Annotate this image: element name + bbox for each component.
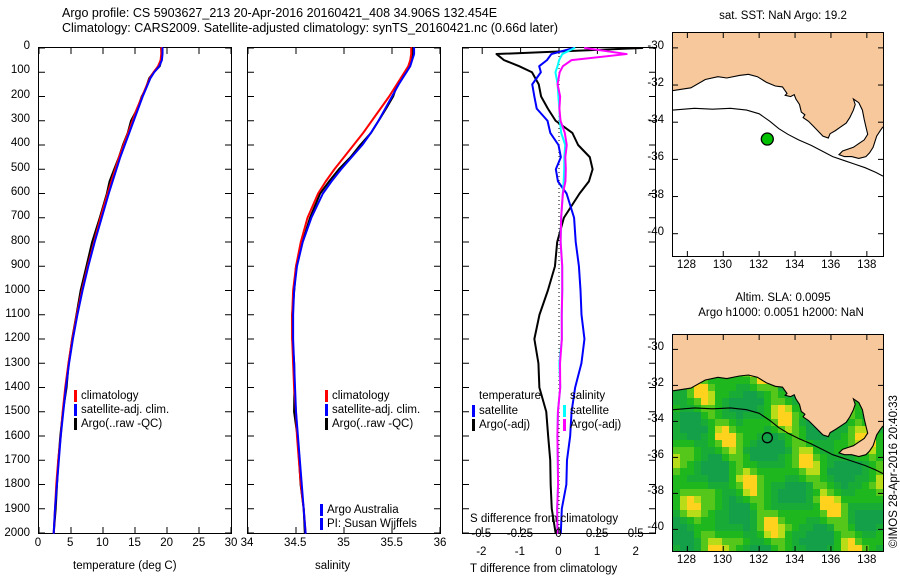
- map-x-tick-label: 128: [666, 259, 706, 271]
- map-y-tick-label: -36: [632, 449, 664, 461]
- map-y-tick-label: -32: [632, 77, 664, 89]
- y-tick-label: 1100: [0, 308, 30, 320]
- legend-label: satellite: [479, 405, 518, 417]
- y-tick-label: 900: [0, 259, 30, 271]
- legend-label: climatology: [81, 390, 139, 402]
- y-tick-label: 1000: [0, 284, 30, 296]
- y-tick-label: 1800: [0, 478, 30, 490]
- attribution-org-row: Argo Australia: [320, 503, 417, 517]
- sst-map-frame: [672, 32, 884, 257]
- map-x-tick-label: 134: [775, 259, 815, 271]
- y-tick-label: 1500: [0, 405, 30, 417]
- map-x-tick-label: 130: [702, 259, 742, 271]
- temperature-legend-row: satellite-adj. clim.: [74, 403, 169, 417]
- legend-label: satellite-adj. clim.: [81, 404, 169, 416]
- map-x-tick-label: 134: [775, 554, 815, 566]
- salinity-plot-frame: [247, 47, 441, 534]
- temperature-x-axis-label: temperature (deg C): [73, 560, 177, 572]
- temperature-plot-frame: [38, 47, 232, 534]
- legend-group-heading: temperature: [479, 390, 541, 404]
- map-y-tick-label: -40: [632, 226, 664, 238]
- x-tick-label: 35.5: [370, 537, 414, 549]
- y-tick-label: 300: [0, 113, 30, 125]
- y-tick-label: 1600: [0, 430, 30, 442]
- sst-map-canvas: [673, 33, 883, 256]
- map-x-tick-label: 132: [739, 259, 779, 271]
- legend-label: Argo(..raw -QC): [332, 418, 413, 430]
- map-y-tick-label: -34: [632, 413, 664, 425]
- difference-legend-group: temperaturesatelliteArgo(-adj): [472, 390, 541, 432]
- legend-color-swatch-icon: [563, 405, 566, 417]
- y-tick-label: 400: [0, 137, 30, 149]
- map-x-tick-label: 138: [847, 259, 887, 271]
- legend-label: Argo(-adj): [479, 419, 530, 431]
- difference-plot-canvas: [463, 48, 655, 533]
- y-tick-label: 700: [0, 210, 30, 222]
- attribution-org: Argo Australia: [327, 504, 399, 516]
- temperature-plot-canvas: [39, 48, 231, 533]
- y-tick-label: 600: [0, 186, 30, 198]
- difference-legend-row: Argo(-adj): [472, 418, 541, 432]
- temperature-legend-row: Argo(..raw -QC): [74, 417, 169, 431]
- credit-text-wrap: ©IMOS 28-Apr-2016 20:40:33: [888, 548, 900, 560]
- title-line-1: Argo profile: CS 5903627_213 20-Apr-2016…: [62, 6, 558, 21]
- difference-legend: temperaturesatelliteArgo(-adj)salinitysa…: [472, 390, 621, 432]
- map-y-tick-label: -40: [632, 521, 664, 533]
- attribution-marker-icon: [320, 504, 323, 516]
- salinity-plot-canvas: [248, 48, 440, 533]
- legend-color-swatch-icon: [325, 390, 328, 402]
- map-x-tick-label: 136: [811, 259, 851, 271]
- difference-legend-row: Argo(-adj): [563, 418, 621, 432]
- sst-map-title: sat. SST: NaN Argo: 19.2: [672, 10, 894, 22]
- x-tick-label: 36: [418, 537, 462, 549]
- sla-map-frame: [672, 334, 884, 552]
- legend-label: Argo(-adj): [570, 419, 621, 431]
- attribution-pi: PI: Susan Wijffels: [327, 518, 417, 530]
- x-tick-label: 2: [614, 546, 658, 558]
- temperature-legend: climatologysatellite-adj. clim.Argo(..ra…: [74, 389, 169, 431]
- salinity-legend-row: satellite-adj. clim.: [325, 403, 420, 417]
- difference-x-axis-label: T difference from climatology: [470, 563, 617, 575]
- map-x-tick-label: 138: [847, 554, 887, 566]
- y-tick-label: 1300: [0, 357, 30, 369]
- legend-color-swatch-icon: [472, 419, 475, 431]
- legend-color-swatch-icon: [74, 390, 77, 402]
- map-x-tick-label: 132: [739, 554, 779, 566]
- legend-color-swatch-icon: [563, 419, 566, 431]
- map-y-tick-label: -32: [632, 377, 664, 389]
- attribution-marker-icon-2: [320, 518, 323, 530]
- legend-label: climatology: [332, 390, 390, 402]
- map-x-tick-label: 136: [811, 554, 851, 566]
- legend-group-heading: salinity: [570, 390, 621, 404]
- map-y-tick-label: -34: [632, 114, 664, 126]
- x-tick-label: -1: [498, 546, 542, 558]
- x-tick-label: 35: [322, 537, 366, 549]
- difference-plot-frame: [462, 47, 656, 534]
- map-y-tick-label: -30: [632, 341, 664, 353]
- difference-secondary-axis-label: S difference from climatology: [470, 513, 618, 525]
- x-tick-label: 0: [537, 546, 581, 558]
- title-line-2: Climatology: CARS2009. Satellite-adjuste…: [62, 21, 558, 36]
- map-y-tick-label: -30: [632, 40, 664, 52]
- y-tick-label: 1700: [0, 454, 30, 466]
- x-tick-label: 1: [575, 546, 619, 558]
- sla-map-canvas: [673, 335, 883, 551]
- y-tick-label: 1900: [0, 503, 30, 515]
- salinity-legend: climatologysatellite-adj. clim.Argo(..ra…: [325, 389, 420, 431]
- map-y-tick-label: -38: [632, 485, 664, 497]
- attribution-pi-row: PI: Susan Wijffels: [320, 517, 417, 531]
- page-title: Argo profile: CS 5903627_213 20-Apr-2016…: [62, 6, 558, 36]
- map-x-tick-label: 128: [666, 554, 706, 566]
- legend-color-swatch-icon: [74, 404, 77, 416]
- map-y-tick-label: -38: [632, 189, 664, 201]
- sla-map-title-line-2: Argo h1000: 0.0051 h2000: NaN: [662, 307, 900, 319]
- legend-color-swatch-icon: [325, 418, 328, 430]
- salinity-legend-row: climatology: [325, 389, 420, 403]
- y-tick-label: 800: [0, 235, 30, 247]
- y-tick-label: 500: [0, 162, 30, 174]
- attribution-block: Argo Australia PI: Susan Wijffels: [320, 503, 417, 531]
- legend-label: Argo(..raw -QC): [81, 418, 162, 430]
- difference-legend-row: satellite: [472, 404, 541, 418]
- y-tick-label: 1400: [0, 381, 30, 393]
- sla-map-title-line-1: Altim. SLA: 0.0095: [672, 292, 894, 304]
- legend-color-swatch-icon: [472, 405, 475, 417]
- credit-text: ©IMOS 28-Apr-2016 20:40:33: [888, 395, 900, 548]
- difference-legend-group: salinitysatelliteArgo(-adj): [563, 390, 621, 432]
- salinity-x-axis-label: salinity: [315, 560, 350, 572]
- legend-label: satellite-adj. clim.: [332, 404, 420, 416]
- salinity-legend-row: Argo(..raw -QC): [325, 417, 420, 431]
- difference-legend-row: satellite: [563, 404, 621, 418]
- x-tick-label: 34.5: [273, 537, 317, 549]
- legend-color-swatch-icon: [74, 418, 77, 430]
- x-tick-label: 34: [225, 537, 269, 549]
- y-tick-label: 100: [0, 64, 30, 76]
- y-tick-label: 1200: [0, 332, 30, 344]
- x-tick-label: -2: [459, 546, 503, 558]
- y-tick-label: 0: [0, 40, 30, 52]
- y-tick-label: 200: [0, 89, 30, 101]
- legend-color-swatch-icon: [325, 404, 328, 416]
- map-x-tick-label: 130: [702, 554, 742, 566]
- temperature-legend-row: climatology: [74, 389, 169, 403]
- legend-label: satellite: [570, 405, 609, 417]
- map-y-tick-label: -36: [632, 151, 664, 163]
